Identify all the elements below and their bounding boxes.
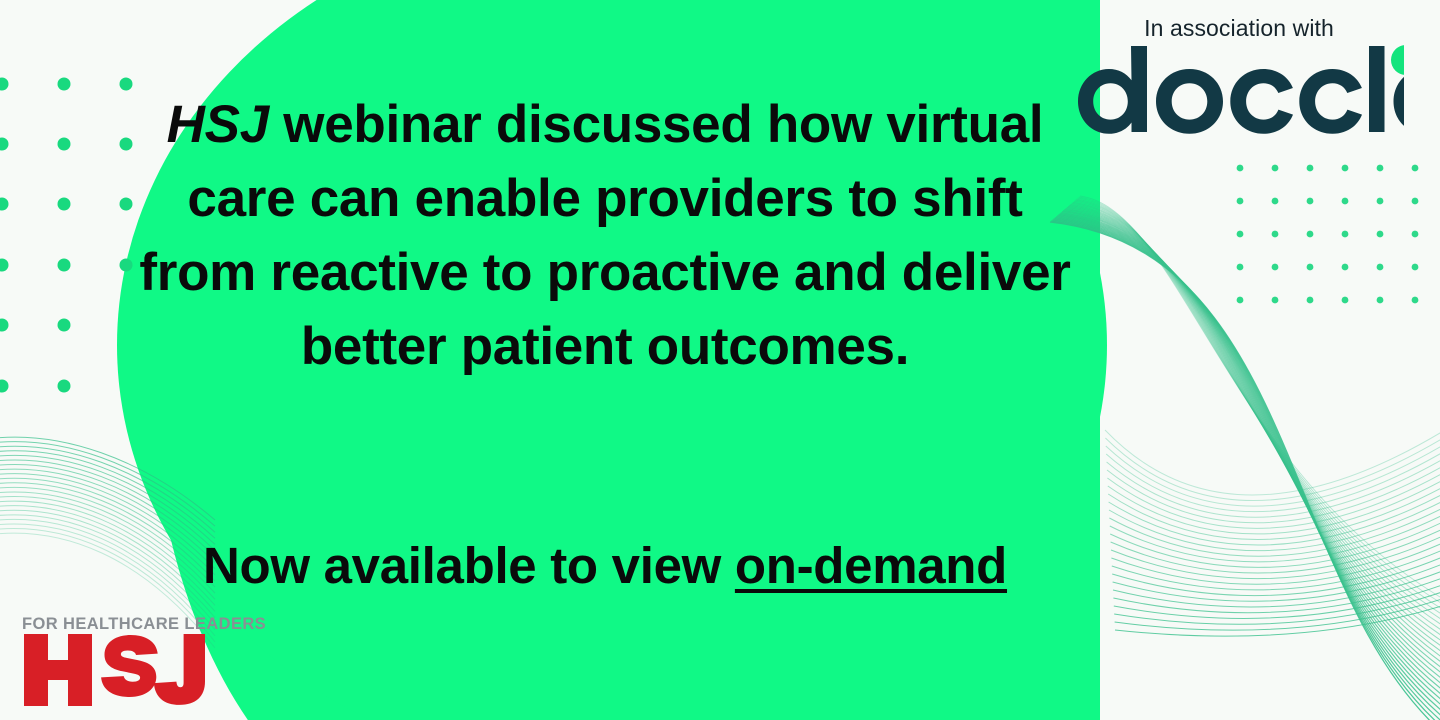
cta-block: Now available to view on-demand <box>130 533 1080 599</box>
partner-lockup: In association with <box>1074 14 1404 144</box>
headline-rest: webinar discussed how virtual care can e… <box>139 95 1070 376</box>
partner-kicker: In association with <box>1074 14 1404 42</box>
doccla-dot-icon <box>1391 45 1404 75</box>
headline-text: HSJ webinar discussed how virtual care c… <box>130 88 1080 384</box>
hsj-logo: FOR HEALTHCARE LEADERS <box>22 615 266 706</box>
on-demand-link[interactable]: on-demand <box>735 537 1007 594</box>
headline-emphasis: HSJ <box>167 95 269 154</box>
headline-block: HSJ webinar discussed how virtual care c… <box>130 88 1080 384</box>
cta-lead: Now available to view <box>203 537 735 594</box>
hsj-wordmark-icon <box>22 634 207 706</box>
hsj-strapline: FOR HEALTHCARE LEADERS <box>22 615 266 633</box>
promo-graphic-canvas: HSJ webinar discussed how virtual care c… <box>0 0 1440 720</box>
cta-text: Now available to view on-demand <box>130 533 1080 599</box>
doccla-logo <box>1074 44 1404 144</box>
